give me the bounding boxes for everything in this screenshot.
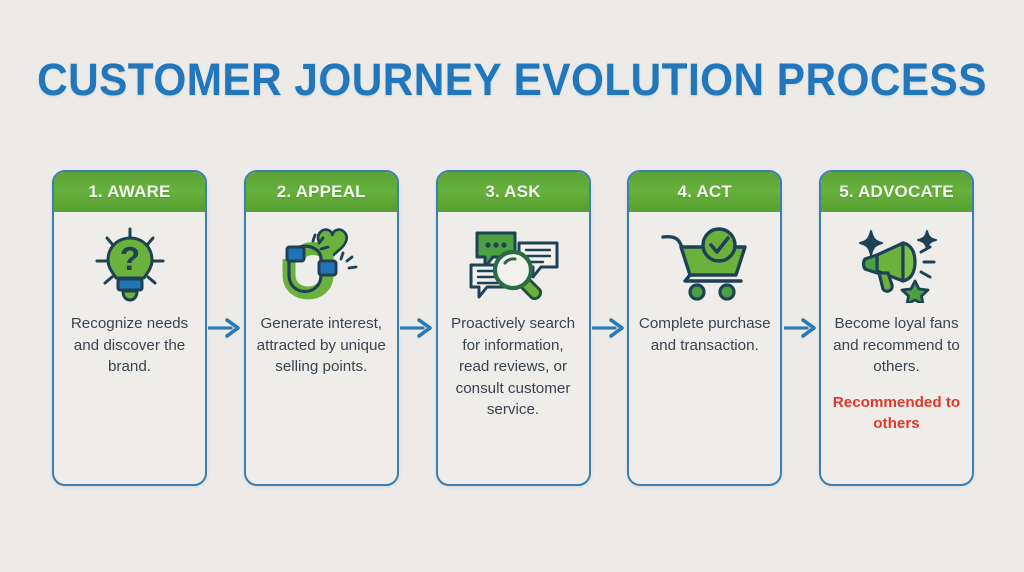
step-card-ask[interactable]: 3. ASK bbox=[436, 170, 591, 486]
step-card-aware[interactable]: 1. AWARE ? Recognize needs and discover … bbox=[52, 170, 207, 486]
connector-arrow-2 bbox=[400, 170, 434, 486]
magnet-heart-icon bbox=[275, 225, 367, 303]
connector-arrow-4 bbox=[784, 170, 818, 486]
page-title: CUSTOMER JOURNEY EVOLUTION PROCESS bbox=[31, 54, 994, 106]
step-body-advocate: Become loyal fans and recommend to other… bbox=[821, 313, 972, 378]
svg-text:?: ? bbox=[119, 240, 139, 277]
speech-bubbles-search-icon bbox=[465, 225, 561, 303]
step-header-advocate: 5. ADVOCATE bbox=[821, 172, 972, 212]
step-note-advocate: Recommended to others bbox=[821, 392, 972, 435]
step-card-advocate[interactable]: 5. ADVOCATE bbox=[819, 170, 974, 486]
journey-flow: 1. AWARE ? Recognize needs and discover … bbox=[52, 170, 974, 486]
connector-arrow-1 bbox=[208, 170, 242, 486]
step-body-ask: Proactively search for information, read… bbox=[438, 313, 589, 421]
step-header-appeal: 2. APPEAL bbox=[246, 172, 397, 212]
connector-arrow-3 bbox=[592, 170, 626, 486]
lightbulb-question-icon: ? bbox=[87, 225, 173, 303]
step-body-appeal: Generate interest, attracted by unique s… bbox=[246, 313, 397, 378]
step-body-aware: Recognize needs and discover the brand. bbox=[54, 313, 205, 378]
step-body-act: Complete purchase and transaction. bbox=[629, 313, 780, 356]
step-header-act: 4. ACT bbox=[629, 172, 780, 212]
step-card-appeal[interactable]: 2. APPEAL Gene bbox=[244, 170, 399, 486]
megaphone-sparkles-icon bbox=[849, 225, 945, 303]
step-header-ask: 3. ASK bbox=[438, 172, 589, 212]
step-card-act[interactable]: 4. ACT Complete purchase and transaction… bbox=[627, 170, 782, 486]
step-header-aware: 1. AWARE bbox=[54, 172, 205, 212]
shopping-cart-check-icon bbox=[657, 225, 753, 303]
